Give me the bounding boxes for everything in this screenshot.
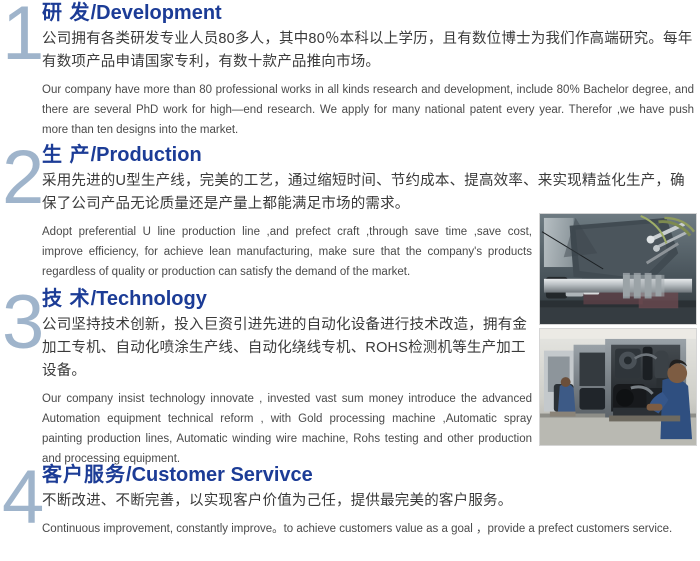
section-body-cn-customer-service: 不断改进、不断完善，以实现客户价值为己任，提供最完美的客户服务。: [42, 490, 694, 513]
heading-en-customer-service: Customer Servivce: [132, 464, 313, 486]
photo-factory-assembly-graphic: [540, 329, 696, 445]
section-body-en-customer-service: Continuous improvement, constantly impro…: [42, 519, 694, 539]
photo-factory-assembly: [539, 328, 697, 446]
section-body-cn-development: 公司拥有各类研发专业人员80多人，其中80％本科以上学历，且有数位博士为我们作高…: [42, 28, 694, 74]
heading-en-production: Production: [96, 144, 202, 166]
heading-en-technology: Technology: [96, 288, 207, 310]
photo-production-machine: [539, 213, 697, 325]
section-body-cn-technology: 公司坚持技术创新，投入巨资引进先进的自动化设备进行技术改造，拥有金加工专机、自动…: [42, 314, 532, 383]
heading-en-development: Development: [96, 2, 222, 24]
section-body-en-development: Our company have more than 80 profession…: [42, 80, 694, 140]
heading-cn-technology: 技 术: [42, 288, 91, 310]
photo-production-machine-graphic: [540, 214, 696, 324]
section-customer-service: 客户服务/Customer Servivce 不断改进、不断完善，以实现客户价值…: [42, 462, 694, 539]
heading-cn-customer-service: 客户服务: [42, 464, 126, 486]
section-numeral-2: 2: [2, 140, 42, 216]
section-body-cn-production: 采用先进的U型生产线，完美的工艺，通过缩短时间、节约成本、提高效率、来实现精益化…: [42, 170, 694, 216]
section-heading-development: 研 发/Development: [42, 0, 694, 26]
heading-cn-production: 生 产: [42, 144, 91, 166]
section-body-en-production: Adopt preferential U line production lin…: [42, 222, 532, 282]
company-advantages-page: 1 2 3 4 研 发/Development 公司拥有各类研发专业人员80多人…: [0, 0, 700, 561]
section-numeral-1: 1: [2, 0, 42, 72]
section-numeral-3: 3: [2, 285, 42, 361]
section-heading-customer-service: 客户服务/Customer Servivce: [42, 462, 694, 488]
section-heading-production: 生 产/Production: [42, 142, 694, 168]
section-body-en-technology: Our company insist technology innovate ,…: [42, 389, 532, 469]
section-numeral-4: 4: [2, 460, 42, 536]
heading-cn-development: 研 发: [42, 2, 91, 24]
section-development: 研 发/Development 公司拥有各类研发专业人员80多人，其中80％本科…: [42, 0, 694, 140]
